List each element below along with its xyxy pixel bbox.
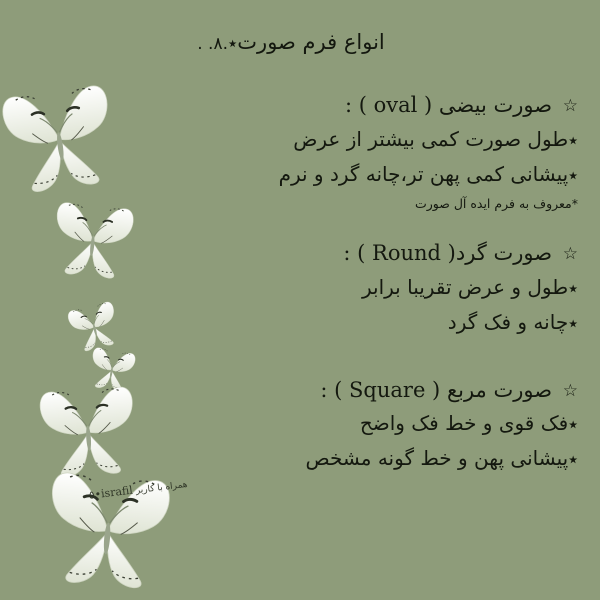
section-square-name-en: ( Square ) bbox=[334, 378, 440, 402]
section-round-name-en: ( Round ) bbox=[357, 241, 456, 265]
poster-canvas: انواع فرم صورت٭.٨. . ☆ صورت بیضی ( oval … bbox=[0, 0, 600, 600]
section-oval-name-en: ( oval ) bbox=[359, 93, 433, 117]
content-area: انواع فرم صورت٭.٨. . ☆ صورت بیضی ( oval … bbox=[0, 0, 600, 600]
bullet-icon: ٭ bbox=[568, 313, 578, 334]
bullet-icon: ٭ bbox=[568, 449, 578, 470]
bullet-icon: ٭ bbox=[568, 165, 578, 186]
section-oval-name-fa: صورت بیضی bbox=[439, 93, 552, 117]
section-round-line-1: ٭طول و عرض تقریبا برابر bbox=[22, 270, 578, 305]
section-round-name-fa: صورت گرد bbox=[456, 241, 552, 265]
section-square: ☆ صورت مربع ( Square ) : ٭فک قوی و خط فک… bbox=[22, 374, 578, 476]
section-round: ☆ صورت گرد( Round ) : ٭طول و عرض تقریبا … bbox=[22, 237, 578, 339]
section-round-line-2-text: چانه و فک گرد bbox=[448, 310, 568, 334]
section-square-colon: : bbox=[320, 378, 327, 402]
section-oval-colon: : bbox=[345, 93, 352, 117]
star-icon: ☆ bbox=[563, 381, 578, 401]
section-square-name-fa: صورت مربع bbox=[447, 378, 552, 402]
title-decoration-right: .٨. . bbox=[197, 34, 228, 54]
star-icon: ☆ bbox=[563, 96, 578, 116]
section-square-line-1: ٭فک قوی و خط فک واضح bbox=[22, 406, 578, 441]
section-round-line-2: ٭چانه و فک گرد bbox=[22, 305, 578, 340]
section-oval-heading: ☆ صورت بیضی ( oval ) : bbox=[22, 89, 578, 122]
title-decoration-left: ٭ bbox=[228, 34, 237, 54]
section-oval-line-1-text: طول صورت کمی بیشتر از عرض bbox=[293, 127, 568, 151]
section-square-line-2: ٭پیشانی پهن و خط گونه مشخص bbox=[22, 441, 578, 476]
section-round-line-1-text: طول و عرض تقریبا برابر bbox=[362, 275, 568, 299]
section-oval-line-2-text: پیشانی کمی پهن تر،چانه گرد و نرم bbox=[279, 162, 569, 186]
bullet-icon: ٭ bbox=[568, 278, 578, 299]
section-square-heading: ☆ صورت مربع ( Square ) : bbox=[22, 374, 578, 407]
star-icon: ☆ bbox=[563, 244, 578, 264]
section-square-line-1-text: فک قوی و خط فک واضح bbox=[360, 411, 568, 435]
page-title: انواع فرم صورت٭.٨. . bbox=[22, 30, 578, 55]
section-oval: ☆ صورت بیضی ( oval ) : ٭طول صورت کمی بیش… bbox=[22, 89, 578, 215]
section-round-colon: : bbox=[343, 241, 350, 265]
title-text: انواع فرم صورت bbox=[237, 30, 384, 54]
section-round-heading: ☆ صورت گرد( Round ) : bbox=[22, 237, 578, 270]
section-oval-line-2: ٭پیشانی کمی پهن تر،چانه گرد و نرم bbox=[22, 157, 578, 192]
section-oval-line-1: ٭طول صورت کمی بیشتر از عرض bbox=[22, 122, 578, 157]
bullet-icon: ٭ bbox=[568, 130, 578, 151]
section-square-line-2-text: پیشانی پهن و خط گونه مشخص bbox=[306, 446, 569, 470]
bullet-icon: ٭ bbox=[568, 414, 578, 435]
section-oval-note: *معروف به فرم ایده آل صورت bbox=[22, 192, 578, 216]
